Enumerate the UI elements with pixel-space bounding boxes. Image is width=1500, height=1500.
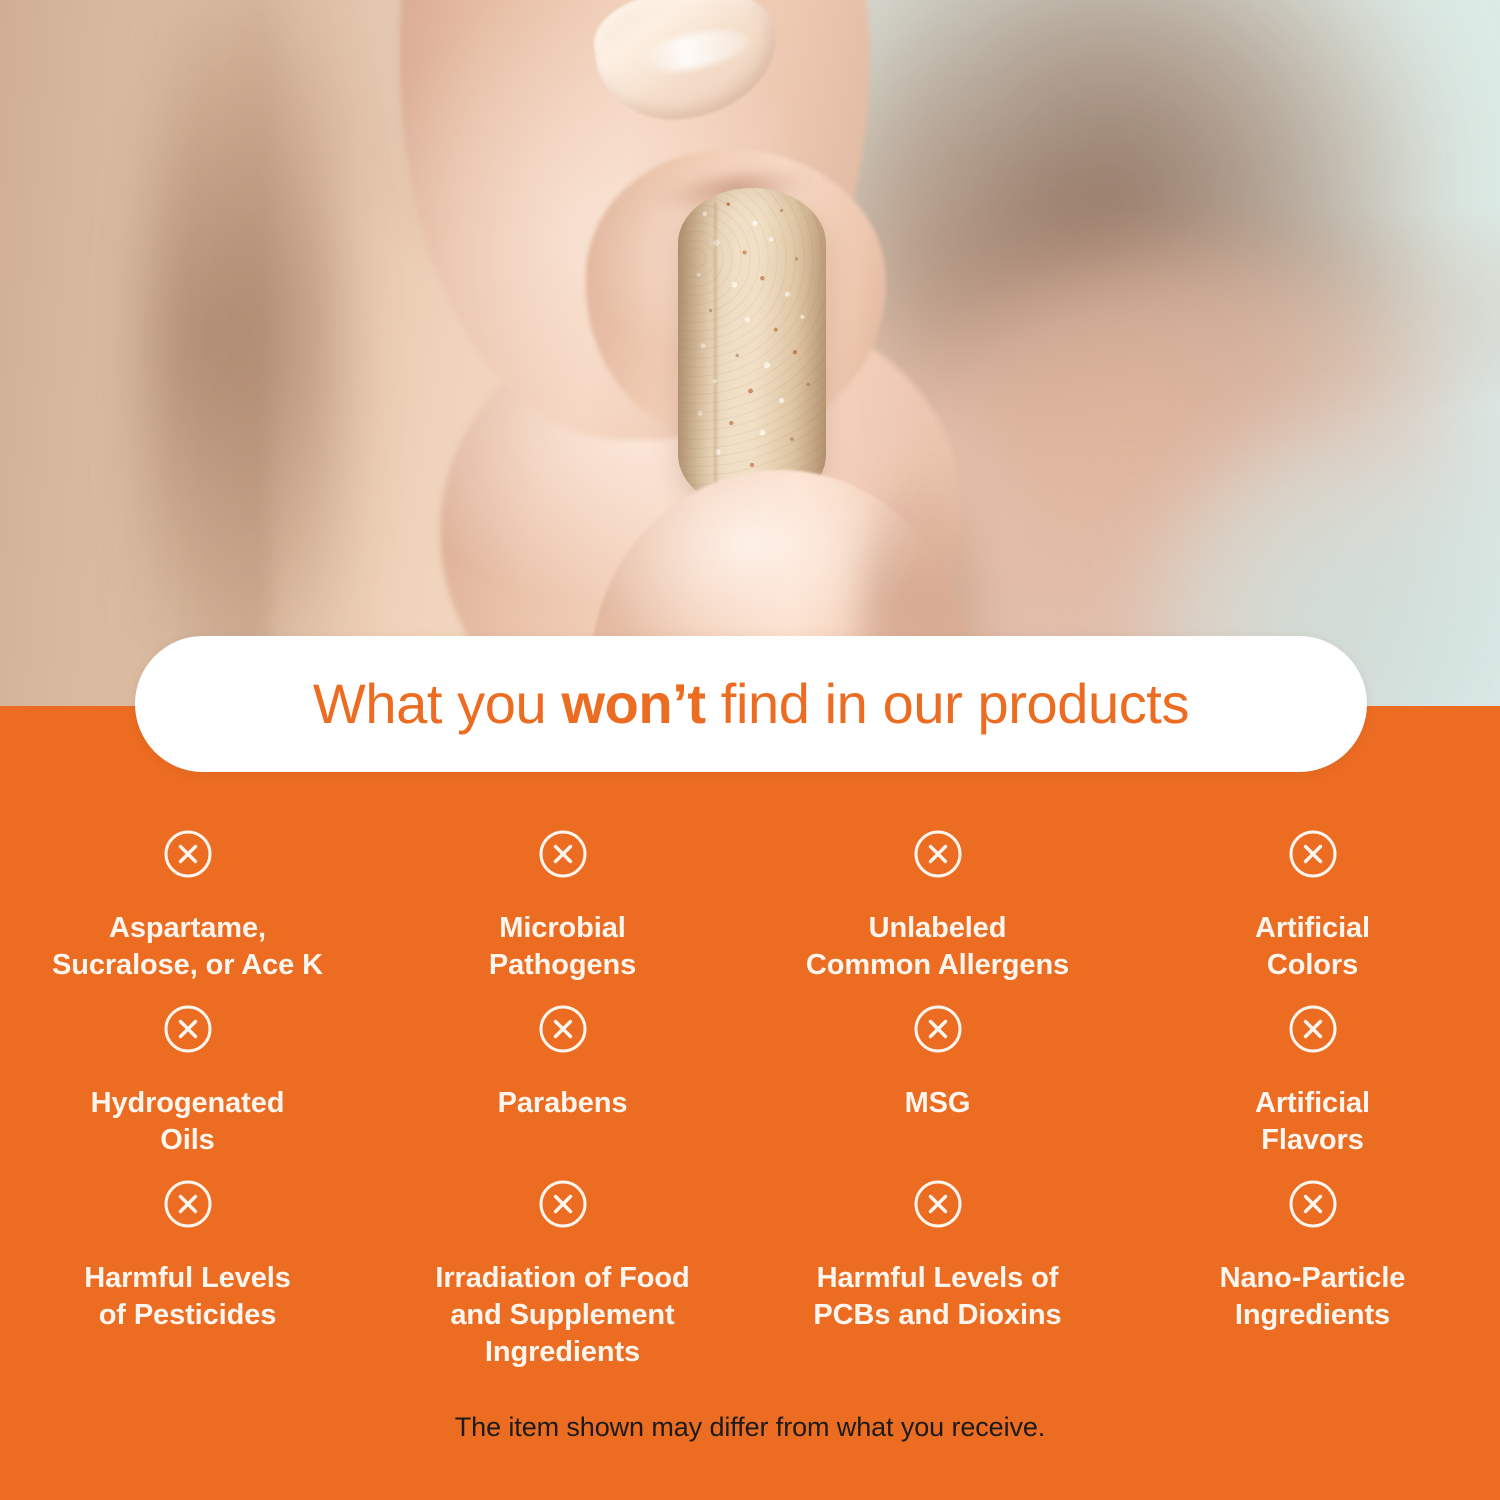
circle-x-icon: [537, 1178, 589, 1230]
exclusions-grid: Aspartame, Sucralose, or Ace K Microbial…: [0, 810, 1500, 1371]
exclusion-label: Microbial Pathogens: [489, 910, 636, 984]
exclusion-item: Hydrogenated Oils: [0, 985, 375, 1160]
exclusion-label: MSG: [905, 1085, 971, 1122]
product-photo: [0, 0, 1500, 710]
circle-x-icon: [162, 1003, 214, 1055]
exclusion-label: Hydrogenated Oils: [91, 1085, 285, 1159]
disclaimer-text: The item shown may differ from what you …: [0, 1412, 1500, 1443]
product-info-graphic: What you won’t find in our products Aspa…: [0, 0, 1500, 1500]
circle-x-icon: [537, 1003, 589, 1055]
circle-x-icon: [912, 1178, 964, 1230]
exclusion-item: Aspartame, Sucralose, or Ace K: [0, 810, 375, 985]
exclusion-item: Irradiation of Food and Supplement Ingre…: [375, 1160, 750, 1371]
circle-x-icon: [1287, 828, 1339, 880]
page-title: What you won’t find in our products: [313, 676, 1189, 732]
circle-x-icon: [912, 1003, 964, 1055]
headline-card: What you won’t find in our products: [135, 636, 1367, 772]
headline-part2: find in our products: [706, 672, 1189, 735]
circle-x-icon: [162, 828, 214, 880]
exclusion-label: Harmful Levels of PCBs and Dioxins: [813, 1260, 1061, 1334]
exclusion-label: Unlabeled Common Allergens: [806, 910, 1069, 984]
circle-x-icon: [1287, 1003, 1339, 1055]
exclusion-item: Artificial Flavors: [1125, 985, 1500, 1160]
exclusion-item: Harmful Levels of Pesticides: [0, 1160, 375, 1371]
supplement-tablet: [678, 188, 826, 510]
tablet-rim-line: [714, 202, 717, 494]
exclusion-label: Aspartame, Sucralose, or Ace K: [52, 910, 323, 984]
exclusion-label: Nano-Particle Ingredients: [1220, 1260, 1406, 1334]
circle-x-icon: [912, 828, 964, 880]
exclusion-item: Nano-Particle Ingredients: [1125, 1160, 1500, 1371]
exclusion-item: Harmful Levels of PCBs and Dioxins: [750, 1160, 1125, 1371]
headline-part1: What you: [313, 672, 562, 735]
exclusion-item: Microbial Pathogens: [375, 810, 750, 985]
exclusion-item: Unlabeled Common Allergens: [750, 810, 1125, 985]
exclusion-item: Artificial Colors: [1125, 810, 1500, 985]
hand-back-shadow: [150, 0, 340, 710]
exclusion-item: MSG: [750, 985, 1125, 1160]
exclusion-label: Irradiation of Food and Supplement Ingre…: [435, 1260, 689, 1371]
exclusion-label: Harmful Levels of Pesticides: [84, 1260, 291, 1334]
circle-x-icon: [537, 828, 589, 880]
exclusion-label: Parabens: [498, 1085, 628, 1122]
exclusion-item: Parabens: [375, 985, 750, 1160]
headline-emphasis: won’t: [561, 672, 705, 735]
circle-x-icon: [162, 1178, 214, 1230]
exclusion-label: Artificial Flavors: [1255, 1085, 1370, 1159]
tablet-rim: [678, 188, 716, 510]
circle-x-icon: [1287, 1178, 1339, 1230]
exclusion-label: Artificial Colors: [1255, 910, 1370, 984]
